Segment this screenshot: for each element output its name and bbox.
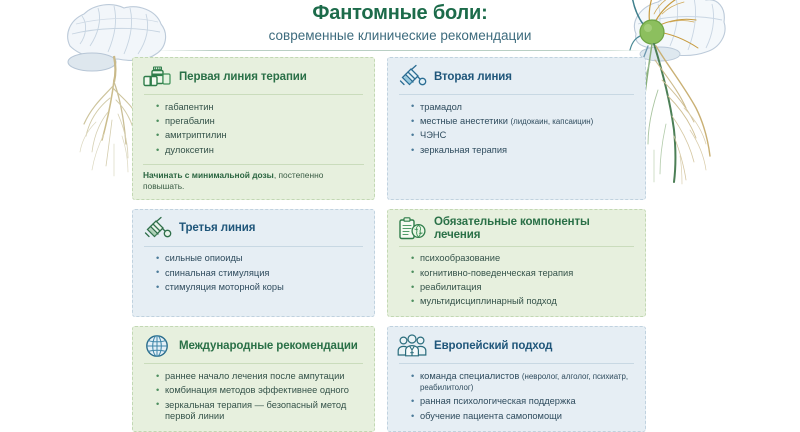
card-international-recommendations[interactable]: Международные рекомендации раннее начало… (132, 326, 375, 431)
card-title: Вторая линия (434, 71, 512, 84)
list-item: трамадол (420, 100, 636, 114)
card-third-line[interactable]: Третья линия сильные опиоиды спинальная … (132, 209, 375, 318)
card-title-divider (144, 363, 363, 364)
card-header: Обязательные компоненты лечения (397, 216, 636, 242)
list-item: местные анестетики (лидокаин, капсаицин) (420, 114, 636, 128)
card-title: Европейский подход (434, 340, 552, 353)
list-item: амитриптилин (165, 129, 365, 143)
list-item: мультидисциплинарный подход (420, 295, 636, 309)
list-item: габапентин (165, 100, 365, 114)
page-subtitle: современные клинические рекомендации (0, 26, 800, 46)
list-item: стимуляция моторной коры (165, 280, 365, 294)
list-item: спинальная стимуляция (165, 266, 365, 280)
list-item: дулоксетин (165, 143, 365, 157)
card-bullet-list: психообразование когнитивно-поведенческа… (397, 252, 636, 310)
list-item: когнитивно-поведенческая терапия (420, 266, 636, 280)
list-item: психообразование (420, 252, 636, 266)
clipboard-brain-icon (397, 216, 427, 242)
card-first-line-therapy[interactable]: Первая линия терапии габапентин прегабал… (132, 57, 375, 200)
card-bullet-list: раннее начало лечения после ампутации ко… (142, 369, 365, 423)
card-header: Европейский подход (397, 333, 636, 359)
recommendation-card-grid: Первая линия терапии габапентин прегабал… (132, 57, 646, 432)
card-european-approach[interactable]: Европейский подход команда специалистов … (387, 326, 646, 431)
globe-icon (142, 333, 172, 359)
card-title: Первая линия терапии (179, 71, 307, 84)
list-item: команда специалистов (невролог, алголог,… (420, 369, 636, 395)
syringe-icon (397, 64, 427, 90)
card-second-line[interactable]: Вторая линия трамадол местные анестетики… (387, 57, 646, 200)
infographic-canvas: Фантомные боли: современные клинические … (0, 0, 800, 400)
card-title: Обязательные компоненты лечения (434, 216, 636, 242)
list-item: сильные опиоиды (165, 252, 365, 266)
card-title-divider (399, 363, 634, 364)
card-header: Первая линия терапии (142, 64, 365, 90)
list-item: зеркальная терапия (420, 143, 636, 157)
card-header: Международные рекомендации (142, 333, 365, 359)
page-title: Фантомные боли: (0, 2, 800, 24)
pill-bottle-icon (142, 64, 172, 90)
list-item: зеркальная терапия — безопасный метод пе… (165, 398, 365, 424)
list-item: обучение пациента самопомощи (420, 409, 636, 423)
card-bullet-list: сильные опиоиды спинальная стимуляция ст… (142, 252, 365, 295)
header: Фантомные боли: современные клинические … (0, 2, 800, 51)
list-item: комбинация методов эффективнее одного (165, 384, 365, 398)
header-divider (154, 50, 646, 51)
card-title-divider (399, 94, 634, 95)
card-footer-note: Начинать с минимальной дозы, постепенно … (143, 164, 364, 192)
card-bullet-list: команда специалистов (невролог, алголог,… (397, 369, 636, 423)
list-item: раннее начало лечения после ампутации (165, 369, 365, 383)
card-title: Международные рекомендации (179, 340, 358, 353)
medical-team-icon (397, 333, 427, 359)
card-header: Третья линия (142, 216, 365, 242)
card-mandatory-components[interactable]: Обязательные компоненты лечения психообр… (387, 209, 646, 318)
list-item: ЧЭНС (420, 129, 636, 143)
card-title: Третья линия (179, 222, 255, 235)
list-item: реабилитация (420, 280, 636, 294)
list-item: прегабалин (165, 114, 365, 128)
card-header: Вторая линия (397, 64, 636, 90)
card-title-divider (144, 246, 363, 247)
card-title-divider (399, 246, 634, 247)
syringe-icon (142, 216, 172, 242)
card-bullet-list: габапентин прегабалин амитриптилин дулок… (142, 100, 365, 158)
list-item: ранная психологическая поддержка (420, 395, 636, 409)
card-bullet-list: трамадол местные анестетики (лидокаин, к… (397, 100, 636, 158)
card-title-divider (144, 94, 363, 95)
